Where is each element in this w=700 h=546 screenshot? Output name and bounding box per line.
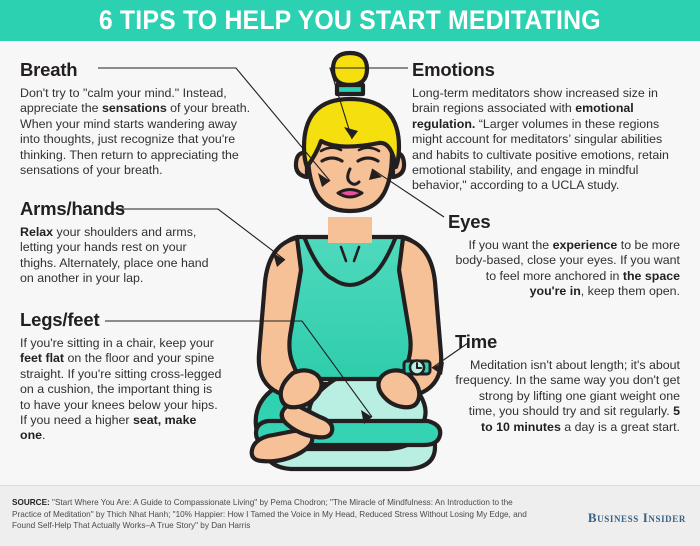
callout-time-title: Time [455,331,680,353]
callout-eyes-body: If you want the experience to be more bo… [448,238,680,300]
infographic-root: 6 TIPS TO HELP YOU START MEDITATING [0,0,700,545]
callout-breath-body: Don't try to "calm your mind." Instead, … [20,86,252,178]
page-title: 6 TIPS TO HELP YOU START MEDITATING [99,5,601,36]
callout-time: Time Meditation isn't about length; it's… [455,331,680,435]
neck [328,217,372,243]
mouth [338,190,362,198]
business-insider-logo: Business Insider [588,510,686,526]
callout-legs-feet: Legs/feet If you're sitting in a chair, … [20,309,225,444]
callout-breath-title: Breath [20,59,252,81]
source-label: SOURCE: [12,498,50,507]
callout-eyes-title: Eyes [448,211,680,233]
hair-tie [337,85,363,94]
source-text: "Start Where You Are: A Guide to Compass… [12,498,527,530]
callout-emotions-title: Emotions [412,59,680,81]
illustration-canvas: Breath Don't try to "calm your mind." In… [0,41,700,485]
callout-emotions-body: Long-term meditators show increased size… [412,86,680,194]
callout-eyes: Eyes If you want the experience to be mo… [448,211,680,300]
footer-bar: SOURCE: "Start Where You Are: A Guide to… [0,485,700,546]
callout-arms-hands-title: Arms/hands [20,198,220,220]
callout-time-body: Meditation isn't about length; it's abou… [455,358,680,435]
callout-legs-feet-title: Legs/feet [20,309,225,331]
source-citation: SOURCE: "Start Where You Are: A Guide to… [12,497,532,532]
callout-legs-feet-body: If you're sitting in a chair, keep your … [20,336,225,444]
callout-breath: Breath Don't try to "calm your mind." In… [20,59,252,178]
callout-arms-hands-body: Relax your shoulders and arms, letting y… [20,225,220,287]
callout-emotions: Emotions Long-term meditators show incre… [412,59,680,194]
callout-arms-hands: Arms/hands Relax your shoulders and arms… [20,198,220,287]
hair-bun [333,53,367,85]
header-bar: 6 TIPS TO HELP YOU START MEDITATING [0,0,700,41]
